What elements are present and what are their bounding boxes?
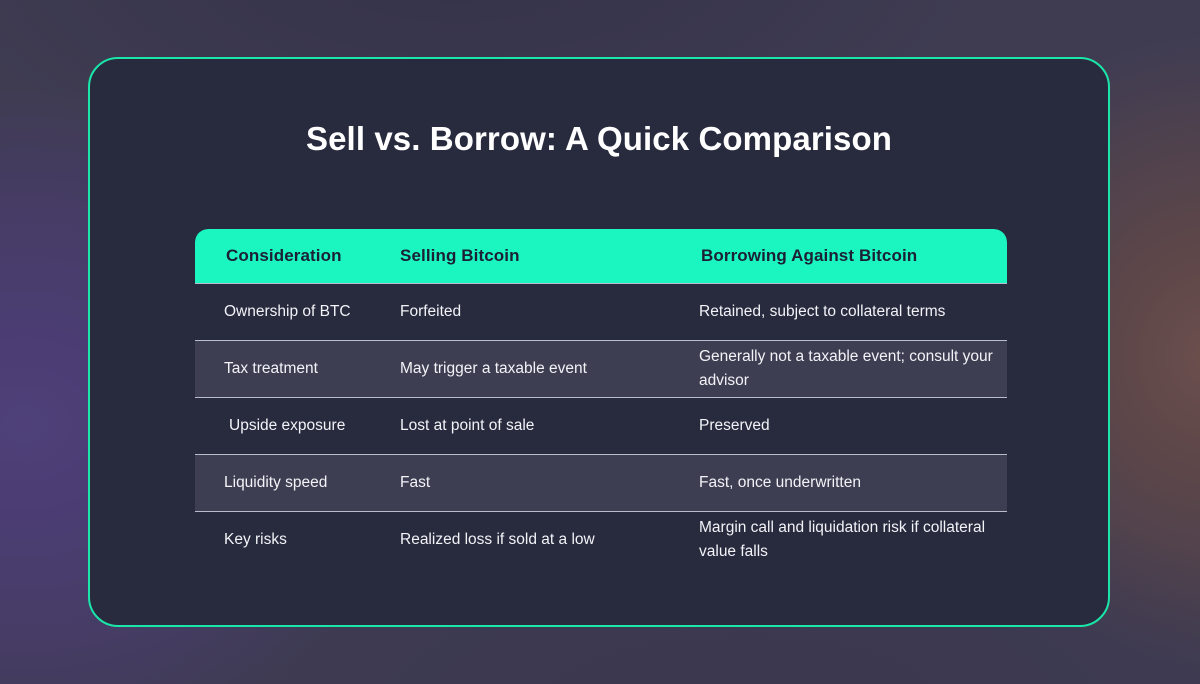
cell-borrowing: Preserved xyxy=(699,414,1007,438)
cell-selling: Lost at point of sale xyxy=(400,414,699,438)
cell-borrowing: Generally not a taxable event; consult y… xyxy=(699,345,1007,393)
column-header-consideration: Consideration xyxy=(195,246,400,266)
table-row: Ownership of BTC Forfeited Retained, sub… xyxy=(195,283,1007,340)
table-row: Key risks Realized loss if sold at a low… xyxy=(195,511,1007,568)
cell-selling: May trigger a taxable event xyxy=(400,357,699,381)
cell-consideration: Tax treatment xyxy=(195,357,400,381)
cell-selling: Realized loss if sold at a low xyxy=(400,528,699,552)
cell-consideration: Upside exposure xyxy=(195,414,400,438)
table-header-row: Consideration Selling Bitcoin Borrowing … xyxy=(195,229,1007,283)
comparison-table: Consideration Selling Bitcoin Borrowing … xyxy=(195,229,1007,568)
table-row: Tax treatment May trigger a taxable even… xyxy=(195,340,1007,397)
column-header-selling-bitcoin: Selling Bitcoin xyxy=(400,246,699,266)
cell-selling: Fast xyxy=(400,471,699,495)
column-header-borrowing-against-bitcoin: Borrowing Against Bitcoin xyxy=(699,246,1007,266)
cell-borrowing: Retained, subject to collateral terms xyxy=(699,300,1007,324)
table-row: Liquidity speed Fast Fast, once underwri… xyxy=(195,454,1007,511)
page-title: Sell vs. Borrow: A Quick Comparison xyxy=(90,113,1108,164)
cell-consideration: Key risks xyxy=(195,528,400,552)
cell-consideration: Ownership of BTC xyxy=(195,300,400,324)
table-row: Upside exposure Lost at point of sale Pr… xyxy=(195,397,1007,454)
cell-consideration: Liquidity speed xyxy=(195,471,400,495)
cell-selling: Forfeited xyxy=(400,300,699,324)
cell-borrowing: Fast, once underwritten xyxy=(699,471,1007,495)
comparison-card: Sell vs. Borrow: A Quick Comparison Cons… xyxy=(88,57,1110,627)
cell-borrowing: Margin call and liquidation risk if coll… xyxy=(699,516,1007,564)
